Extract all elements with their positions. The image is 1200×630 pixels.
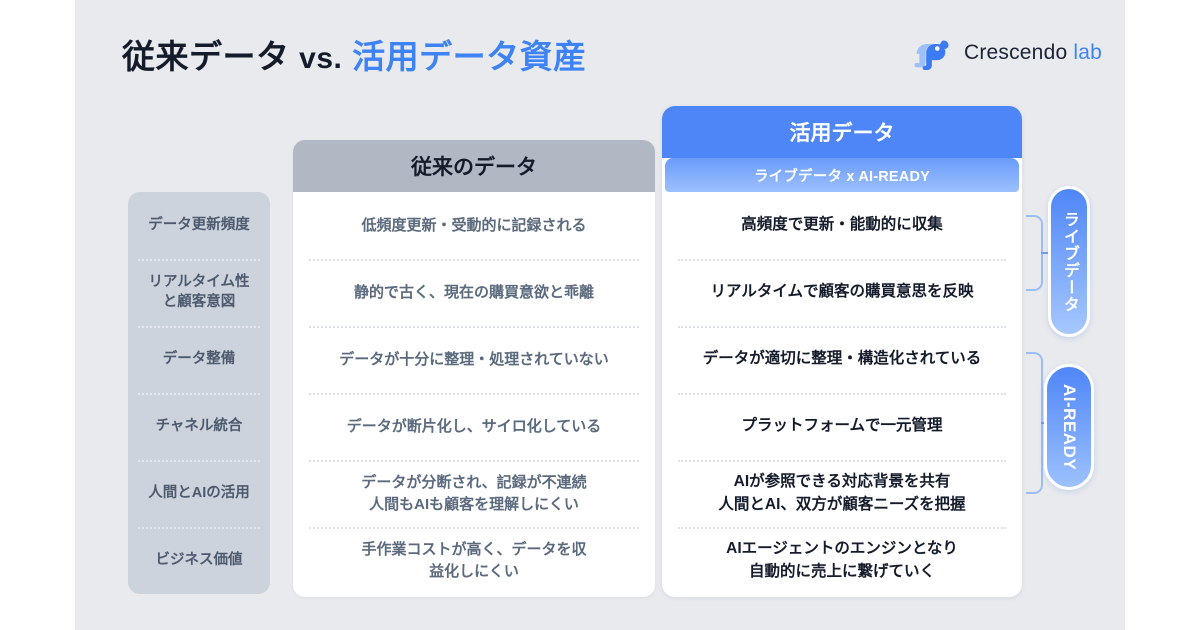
brand-name: Crescendo	[964, 41, 1067, 64]
axis-label-row: チャネル統合	[128, 393, 270, 460]
legacy-row: データが断片化し、サイロ化している	[293, 393, 655, 460]
infographic-stage: 従来データ vs. 活用データ資産 Crescendo lab データ更新頻度 …	[0, 0, 1200, 630]
legacy-data-card: 従来のデータ 低頻度更新・受動的に記録される 静的で古く、現在の購買意欲と乖離 …	[293, 140, 655, 597]
legacy-rows: 低頻度更新・受動的に記録される 静的で古く、現在の購買意欲と乖離 データが十分に…	[293, 192, 655, 594]
activated-row: プラットフォームで一元管理	[662, 393, 1022, 460]
ai-ready-bracket	[1026, 352, 1043, 494]
brand-logo-text: Crescendo lab	[964, 41, 1102, 65]
axis-label-row: データ整備	[128, 326, 270, 393]
page-title-accent: 活用データ資産	[352, 38, 587, 75]
activated-card-heading: 活用データ	[662, 106, 1022, 158]
axis-label-row: リアルタイム性と顧客意図	[128, 259, 270, 326]
legacy-row: データが十分に整理・処理されていない	[293, 326, 655, 393]
legacy-card-heading: 従来のデータ	[293, 140, 655, 192]
legacy-row: データが分断され、記録が不連続人間もAIも顧客を理解しにくい	[293, 460, 655, 527]
brand-suffix: lab	[1073, 41, 1102, 64]
axis-label-row: ビジネス価値	[128, 527, 270, 594]
axis-label-row: データ更新頻度	[128, 192, 270, 259]
activated-row: データが適切に整理・構造化されている	[662, 326, 1022, 393]
activated-row: 高頻度で更新・能動的に収集	[662, 192, 1022, 259]
activated-rows: 高頻度で更新・能動的に収集 リアルタイムで顧客の購買意思を反映 データが適切に整…	[662, 192, 1022, 594]
badge-live-data: ライブデータ	[1048, 186, 1090, 337]
legacy-row: 静的で古く、現在の購買意欲と乖離	[293, 259, 655, 326]
brand-logo: Crescendo lab	[911, 36, 1102, 70]
crescendo-bird-logo-icon	[911, 36, 951, 70]
legacy-row: 低頻度更新・受動的に記録される	[293, 192, 655, 259]
page-title: 従来データ vs. 活用データ資産	[122, 30, 587, 78]
live-data-bracket	[1026, 215, 1043, 291]
activated-row: AIが参照できる対応背景を共有人間とAI、双方が顧客ニーズを把握	[662, 460, 1022, 527]
legacy-row: 手作業コストが高く、データを収益化しにくい	[293, 527, 655, 594]
page-title-prefix: 従来データ	[122, 38, 290, 75]
page-title-vs: vs.	[299, 42, 342, 75]
axis-label-row: 人間とAIの活用	[128, 460, 270, 527]
activated-card-subheading: ライブデータ x AI-READY	[665, 158, 1019, 192]
activated-row: リアルタイムで顧客の購買意思を反映	[662, 259, 1022, 326]
comparison-axis-column: データ更新頻度 リアルタイム性と顧客意図 データ整備 チャネル統合 人間とAIの…	[128, 192, 270, 594]
activated-row: AIエージェントのエンジンとなり自動的に売上に繋げていく	[662, 527, 1022, 594]
badge-ai-ready: AI-READY	[1044, 364, 1094, 490]
activated-data-card: 活用データ ライブデータ x AI-READY 高頻度で更新・能動的に収集 リア…	[662, 106, 1022, 597]
